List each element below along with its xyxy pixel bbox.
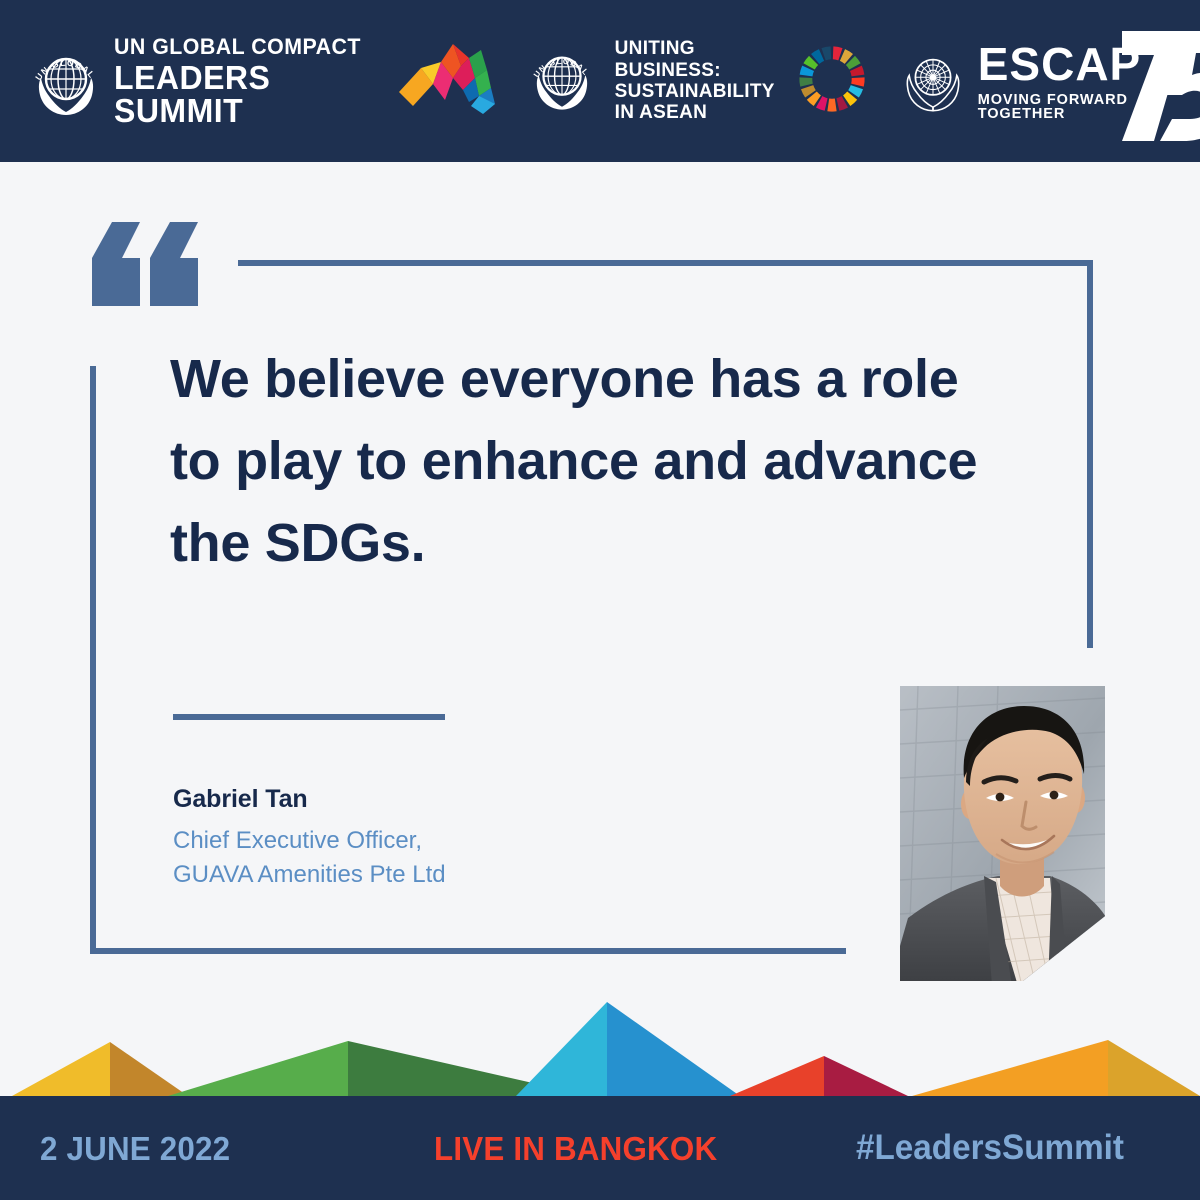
logo-line-1: UN GLOBAL COMPACT	[114, 36, 378, 58]
logo-un-global-compact-leaders-summit: UN GLOBAL COMPACT UN GLOBAL COMPACT LEAD…	[24, 0, 495, 162]
un-global-compact-emblem-icon: UN GLOBAL COMPACT	[24, 39, 108, 123]
sdg-wheel-segment	[821, 46, 831, 60]
logo-escap-75: ESCAP MOVING FORWARD TOGETHER	[896, 0, 1200, 162]
ungc-leaders-summit-wordmark: UN GLOBAL COMPACT LEADERS SUMMIT	[114, 36, 387, 127]
svg-text:UN GLOBAL COMPACT: UN GLOBAL COMPACT	[24, 39, 100, 83]
sdg-wheel-segment	[799, 77, 812, 86]
peak-yellow-right	[110, 1042, 188, 1096]
quote-frame-left-border	[90, 366, 96, 954]
uniting-business-wordmark: UNITING BUSINESS: SUSTAINABILITY IN ASEA…	[615, 38, 784, 123]
sdg-wheel-segment	[827, 98, 836, 111]
sdg-wheel-segment	[851, 77, 864, 86]
peak-orange-right	[1108, 1040, 1200, 1096]
quote-line-1: We believe everyone has a role	[170, 338, 1060, 420]
logo-line-2: LEADERS SUMMIT	[114, 61, 378, 127]
attribution-divider	[173, 714, 445, 720]
speaker-role-line-1: Chief Executive Officer,	[173, 824, 693, 858]
escap-75-anniversary-icon	[1114, 27, 1200, 150]
double-quote-icon	[74, 218, 204, 310]
event-location: LIVE IN BANGKOK	[434, 1130, 717, 1168]
sdg-wheel-segment	[833, 46, 843, 60]
peak-yellow-left	[12, 1042, 110, 1096]
event-date: 2 JUNE 2022	[40, 1130, 230, 1168]
quote-frame-right-border	[1087, 260, 1093, 648]
header-bar: UN GLOBAL COMPACT UN GLOBAL COMPACT LEAD…	[0, 0, 1200, 162]
quote-card: UN GLOBAL COMPACT UN GLOBAL COMPACT LEAD…	[0, 0, 1200, 1200]
uniting-line-2: SUSTAINABILITY	[615, 81, 784, 102]
leaders-summit-gem-icon	[391, 26, 495, 123]
speaker-name: Gabriel Tan	[173, 785, 693, 814]
peak-orange-left	[912, 1040, 1108, 1096]
mountain-graphic	[0, 984, 1200, 1096]
quote-line-2: to play to enhance and advance	[170, 420, 1060, 502]
peak-blue-left	[516, 1002, 607, 1096]
logo-uniting-business-sustainability-asean: UN GLOBAL COMPACT UNITING BUSINESS: SUST…	[523, 0, 866, 162]
peak-red-right	[824, 1056, 908, 1096]
speaker-role-line-2: GUAVA Amenities Pte Ltd	[173, 858, 693, 892]
speaker-photo	[900, 686, 1105, 981]
quote-line-3: the SDGs.	[170, 502, 1060, 584]
svg-text:UN GLOBAL COMPACT: UN GLOBAL COMPACT	[523, 39, 593, 80]
quote-frame-bottom-border	[90, 948, 846, 954]
sdg-wheel-icon	[798, 45, 866, 118]
peak-green-left	[168, 1041, 348, 1096]
peak-blue-right	[607, 1002, 740, 1096]
speaker-role: Chief Executive Officer, GUAVA Amenities…	[173, 824, 693, 892]
quote-frame-top-border	[238, 260, 1093, 266]
quote-text: We believe everyone has a role to play t…	[170, 338, 1060, 584]
peak-red-left	[730, 1056, 824, 1096]
attribution-block: Gabriel Tan Chief Executive Officer, GUA…	[173, 785, 693, 892]
un-global-compact-emblem-icon-2: UN GLOBAL COMPACT	[523, 39, 607, 123]
footer-bar: 2 JUNE 2022 LIVE IN BANGKOK #LeadersSumm…	[0, 1096, 1200, 1200]
uniting-line-1: UNITING BUSINESS:	[615, 38, 784, 81]
uniting-line-3: IN ASEAN	[615, 102, 784, 123]
un-emblem-icon	[896, 42, 970, 121]
event-hashtag: #LeadersSummit	[856, 1128, 1124, 1168]
